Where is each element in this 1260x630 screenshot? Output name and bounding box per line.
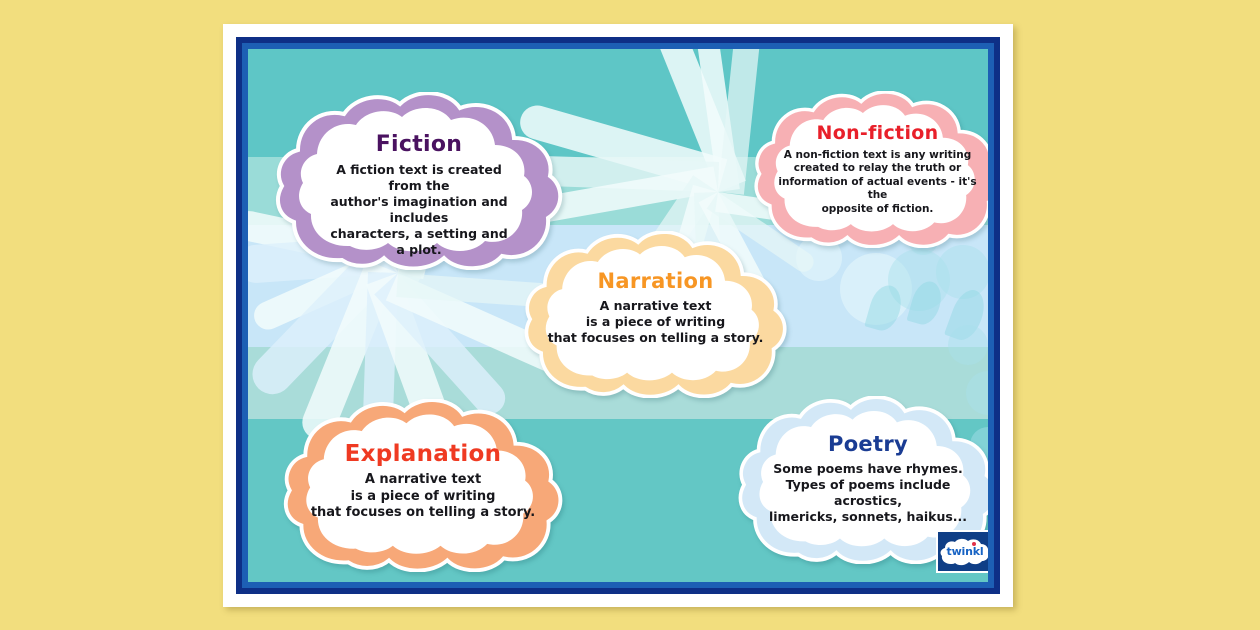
twinkl-logo-badge[interactable]: twinkl xyxy=(936,530,988,573)
poster-canvas: Fiction A fiction text is created from t… xyxy=(248,49,988,582)
twinkl-cloud-icon: twinkl xyxy=(940,538,988,566)
cloud-explanation[interactable]: Explanation A narrative text is a piece … xyxy=(280,399,566,572)
twinkl-wordmark: twinkl xyxy=(940,545,988,558)
cloud-narration-shape xyxy=(521,231,790,398)
decor-circle xyxy=(936,245,988,299)
cloud-non-fiction-shape xyxy=(751,91,988,248)
decor-circle xyxy=(948,325,988,365)
poster-border-inner: Fiction A fiction text is created from t… xyxy=(242,43,994,588)
poster-border-outer: Fiction A fiction text is created from t… xyxy=(236,37,1000,594)
cloud-explanation-shape xyxy=(280,399,566,572)
poster-frame: Fiction A fiction text is created from t… xyxy=(223,24,1013,607)
cloud-narration[interactable]: Narration A narrative text is a piece of… xyxy=(521,231,790,398)
cloud-non-fiction[interactable]: Non-fiction A non-fiction text is any wr… xyxy=(751,91,988,248)
